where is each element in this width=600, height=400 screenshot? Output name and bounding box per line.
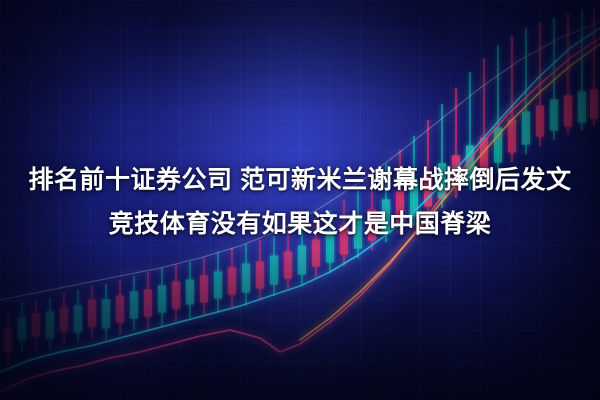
headline-line-2: 竞技体育没有如果这才是中国脊梁	[0, 202, 600, 246]
headline-text: 排名前十证券公司 范可新米兰谢幕战摔倒后发文 竞技体育没有如果这才是中国脊梁	[0, 158, 600, 246]
headline-line-1: 排名前十证券公司 范可新米兰谢幕战摔倒后发文	[0, 158, 600, 202]
stock-chart-banner: 排名前十证券公司 范可新米兰谢幕战摔倒后发文 竞技体育没有如果这才是中国脊梁	[0, 0, 600, 400]
